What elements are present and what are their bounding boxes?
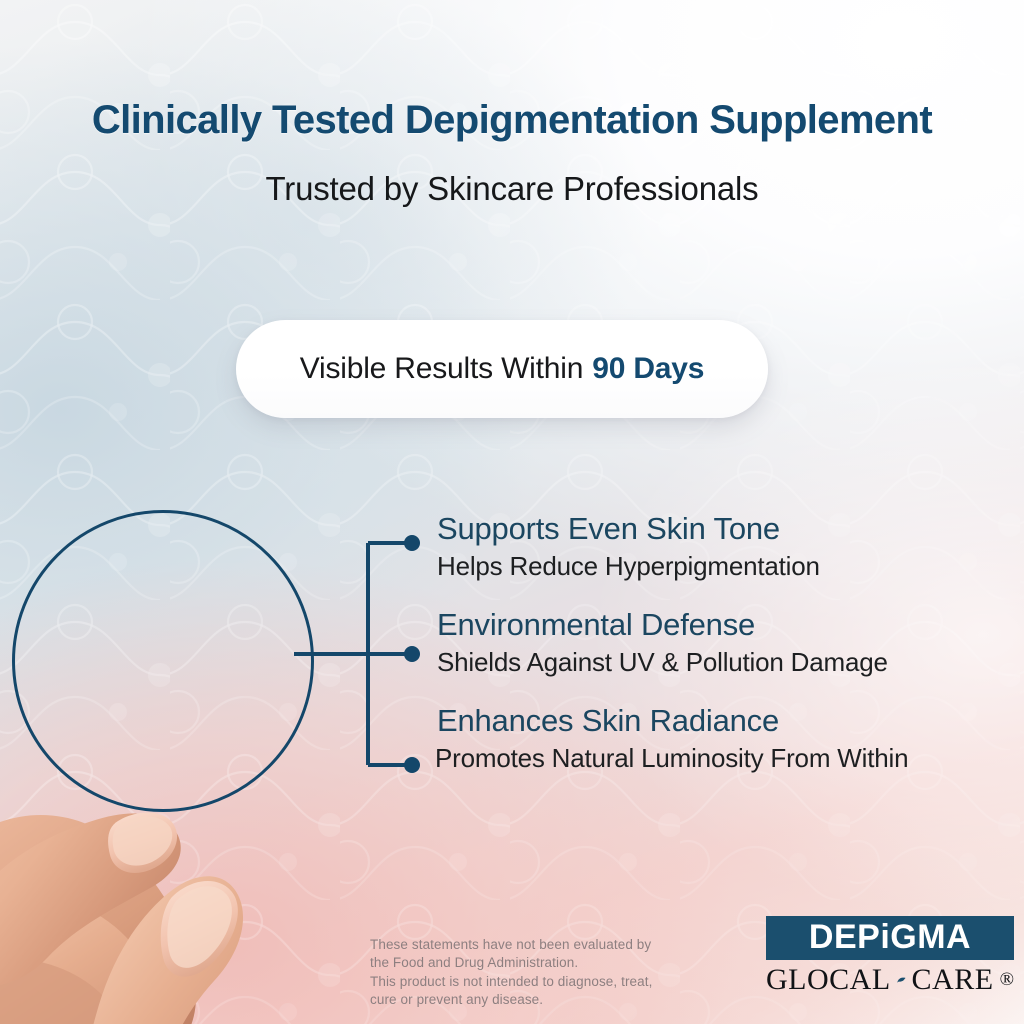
logo-brand-plate: DEPiGMA	[766, 916, 1014, 960]
logo-tagline: GLOCAL CARE ®	[766, 965, 1014, 995]
disclaimer-line-2: the Food and Drug Administration.	[370, 954, 750, 972]
feature-subtitle: Helps Reduce Hyperpigmentation	[437, 551, 1017, 582]
disclaimer-line-4: cure or prevent any disease.	[370, 991, 750, 1009]
bullet-dot-2	[404, 646, 420, 662]
feature-subtitle: Promotes Natural Luminosity From Within	[435, 743, 1017, 774]
results-badge-highlight: 90 Days	[592, 352, 704, 385]
feature-item: Enhances Skin Radiance Promotes Natural …	[437, 704, 1017, 774]
results-badge-text: Visible Results Within90 Days	[300, 352, 705, 386]
page-subtitle: Trusted by Skincare Professionals	[0, 170, 1024, 208]
registered-trademark-icon: ®	[1000, 969, 1014, 991]
disclaimer-line-1: These statements have not been evaluated…	[370, 936, 750, 954]
logo-tagline-left: GLOCAL	[766, 965, 891, 995]
promo-poster: Clinically Tested Depigmentation Supplem…	[0, 0, 1024, 1024]
feature-subtitle: Shields Against UV & Pollution Damage	[437, 647, 1017, 678]
feature-title: Supports Even Skin Tone	[437, 512, 1017, 547]
feature-title: Environmental Defense	[437, 608, 1017, 643]
logo-tagline-right: CARE	[912, 965, 994, 995]
leaf-icon	[897, 969, 906, 991]
disclaimer-line-3: This product is not intended to diagnose…	[370, 973, 750, 991]
feature-title: Enhances Skin Radiance	[437, 704, 1017, 739]
fda-disclaimer: These statements have not been evaluated…	[370, 936, 750, 1009]
logo-brand-text: DEPiGMA	[778, 920, 1002, 954]
bullet-dot-1	[404, 535, 420, 551]
bullet-dot-3	[404, 757, 420, 773]
feature-item: Environmental Defense Shields Against UV…	[437, 608, 1017, 678]
results-badge: Visible Results Within90 Days	[236, 320, 768, 418]
results-badge-prefix: Visible Results Within	[300, 352, 584, 385]
feature-list: Supports Even Skin Tone Helps Reduce Hyp…	[437, 512, 1017, 774]
brand-logo: DEPiGMA GLOCAL CARE ®	[766, 916, 1014, 995]
page-title: Clinically Tested Depigmentation Supplem…	[0, 98, 1024, 143]
feature-connector-bracket	[280, 520, 440, 790]
feature-item: Supports Even Skin Tone Helps Reduce Hyp…	[437, 512, 1017, 582]
